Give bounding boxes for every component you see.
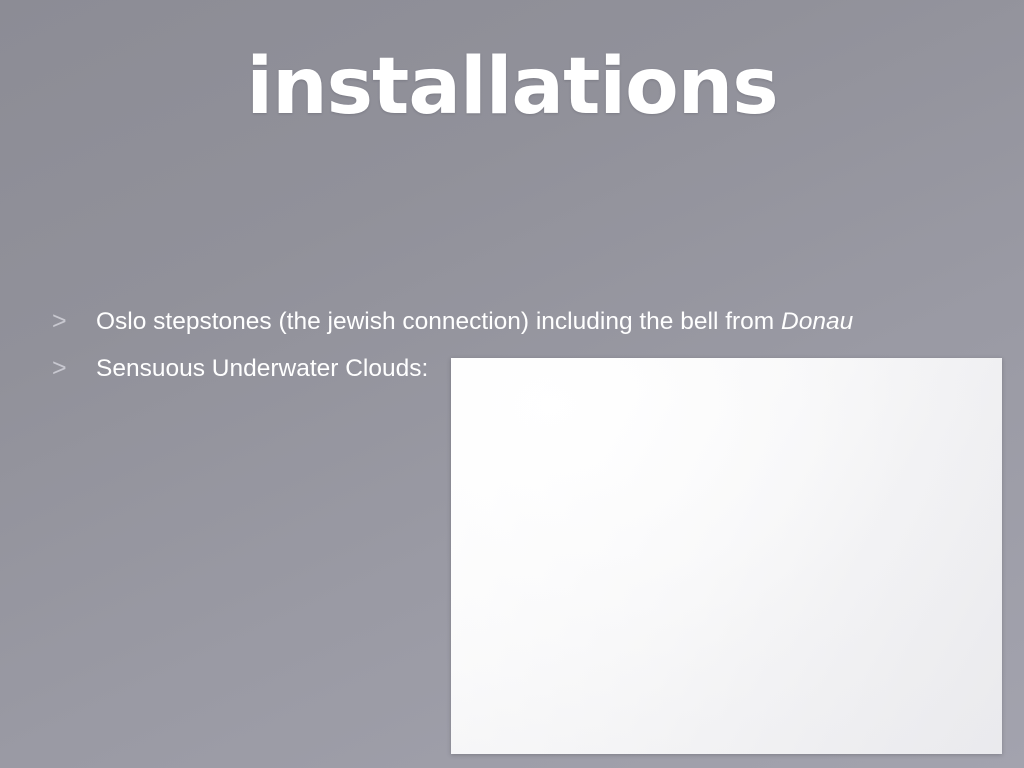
annotation-calc-mid-header: 300 cm (579, 578, 622, 592)
annotation-staircase: stair case. (713, 579, 773, 593)
bullet-text: Oslo stepstones (the jewish connection) … (96, 308, 853, 336)
annotation-grid-unit: cm (459, 523, 473, 533)
chevron-right-icon: > (52, 309, 96, 334)
mid-connection: L 27 (795, 490, 915, 598)
bullet-text: Sensuous Underwater Clouds: (96, 355, 428, 383)
annotation-right-equation: B = 2000 + 54 = 2054 (874, 510, 1002, 524)
presentation-slide: installations > Oslo stepstones (the jew… (0, 0, 1024, 768)
annotation-grid-b: B (462, 454, 474, 472)
annotation-right-h-equals: H = (908, 673, 932, 687)
bullet-text-italic: Donau (781, 308, 853, 335)
annotation-cloud-mark: 3 (789, 699, 795, 709)
annotation-cloud-10cm: 10 cm (835, 679, 863, 689)
annotation-calc-left-line2: 25 + 2 = 125 (500, 595, 579, 609)
annotation-cloud-dim2: 7 (803, 727, 811, 741)
annotation-cloud-dim1-unit: cm (775, 741, 789, 751)
annotation-grid-equals: = (467, 482, 480, 500)
annotation-cloud-dim1: 7 (777, 727, 785, 741)
annotation-right-l-lower: L (794, 580, 803, 594)
sketch-photo: 35 punkte (-3) = 32 B = 200 cm 5? entran… (451, 358, 1002, 754)
bullet-text-plain: Sensuous Underwater Clouds: (96, 355, 428, 382)
annotation-right-h: H (894, 409, 906, 423)
cloud-wire-sketch: 3 10 cm 7 cm 7 cm (767, 620, 863, 751)
chevron-right-icon: > (52, 356, 96, 381)
bullet-text-plain: Oslo stepstones (the jewish connection) … (96, 308, 781, 335)
mesh-grid (487, 456, 785, 555)
annotation-calc-left-total: 200 (502, 619, 525, 633)
page-title: installations (0, 48, 1024, 126)
annotation-calc-left-line1: 5 x 35 = 175 (457, 579, 532, 593)
annotation-cloud-dim2-unit: cm (801, 741, 815, 751)
annotation-right-29: 29 (894, 603, 907, 613)
annotation-right-l-upper: L (808, 490, 817, 504)
annotation-grid-value: 200 (458, 510, 481, 524)
annotation-post-width: 50 (852, 745, 864, 754)
annotation-calc-mid-paren: ( 2 x 10 ) (659, 605, 711, 619)
annotation-right-27: 27 (902, 491, 915, 501)
list-item: > Oslo stepstones (the jewish connection… (52, 308, 952, 336)
annotation-calc-mid-line2: 20 (628, 612, 644, 626)
annotation-passage: passage (708, 515, 732, 564)
sketch-drawing: 35 punkte (-3) = 32 B = 200 cm 5? entran… (451, 358, 1002, 754)
annotation-calc-mid-total: 300 (627, 635, 649, 649)
annotation-right-b: B (866, 391, 875, 405)
annotation-calc-left-header: massstab (457, 563, 500, 573)
annotation-top-equation: 35 punkte (-3) = 32 (575, 399, 689, 413)
